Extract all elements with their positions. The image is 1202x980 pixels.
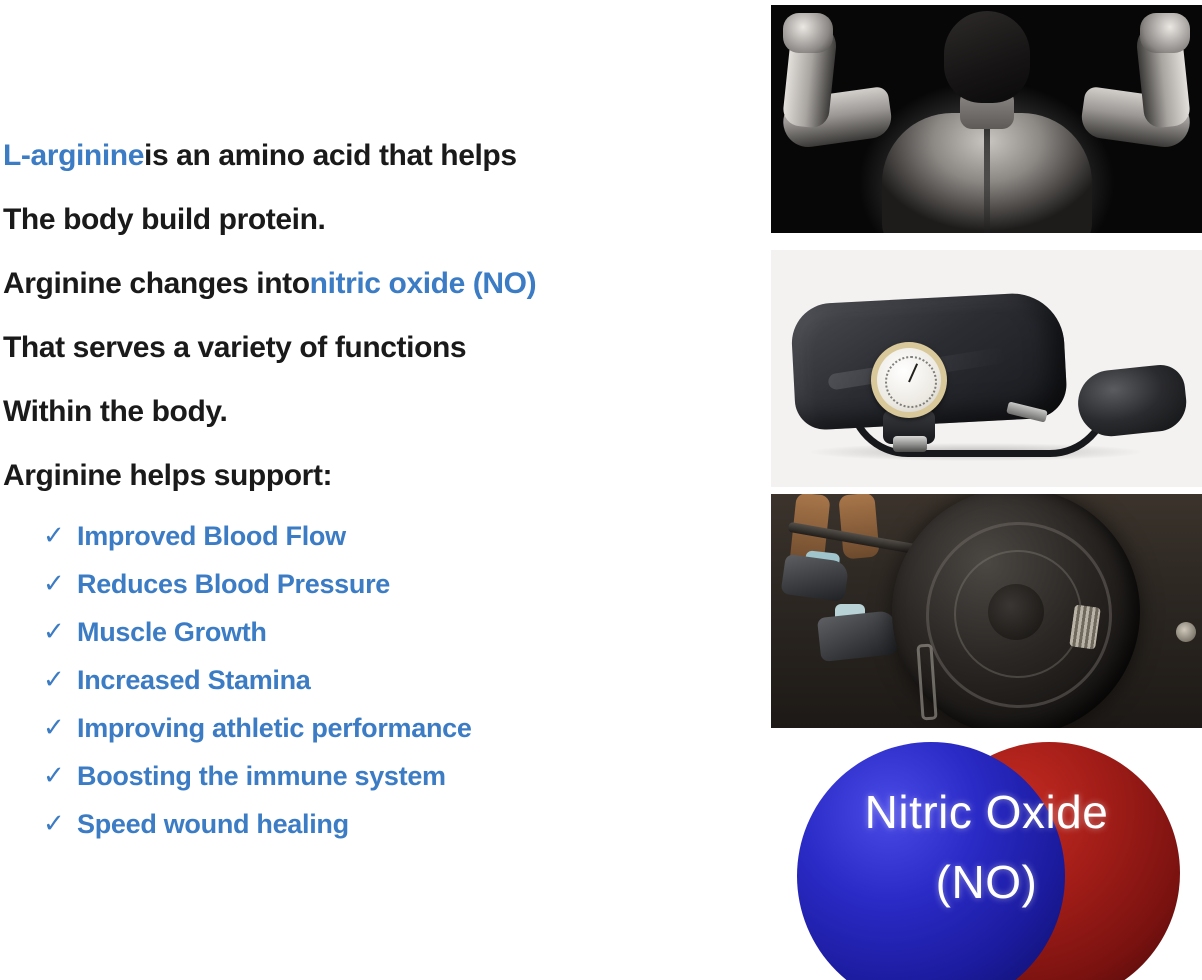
leg-shape [838,494,879,559]
chrome-fitting-shape [893,436,927,452]
statement-line: Arginine helps support: [3,444,743,508]
list-item-label: Improved Blood Flow [77,521,346,552]
statement-line: Within the body. [3,380,743,444]
inflation-bulb-shape [1075,363,1189,440]
shoe-shape [817,610,899,662]
benefits-checklist: ✓ Improved Blood Flow ✓ Reduces Blood Pr… [3,512,743,848]
list-item-label: Reduces Blood Pressure [77,569,390,600]
statement-line: The body build protein. [3,188,743,252]
fist-shape [783,13,833,53]
spine-line-shape [984,121,990,233]
statement-block: L-arginine is an amino acid that helps T… [3,124,743,508]
check-icon: ✓ [43,523,77,549]
list-item: ✓ Boosting the immune system [3,752,743,800]
statement-lead: That serves a variety of functions [3,333,466,363]
statement-lead: L-arginine [3,141,144,171]
fist-shape [1140,13,1190,53]
list-item: ✓ Increased Stamina [3,656,743,704]
list-item-label: Increased Stamina [77,665,311,696]
list-item: ✓ Speed wound healing [3,800,743,848]
check-icon: ✓ [43,619,77,645]
check-icon: ✓ [43,811,77,837]
plate-hub [988,584,1044,640]
list-item-label: Boosting the immune system [77,761,446,792]
blood-pressure-cuff-photo [771,250,1202,487]
image-column: Nitric Oxide (NO) [771,0,1202,980]
statement-lead: Arginine changes into [3,269,310,299]
statement-lead: Arginine helps support: [3,461,332,491]
statement-lead: The body build protein. [3,205,325,235]
check-icon: ✓ [43,667,77,693]
pressure-gauge [871,342,947,418]
statement-rest: is an amino acid that helps [144,141,517,171]
list-item: ✓ Improving athletic performance [3,704,743,752]
statement-line: Arginine changes into nitric oxide (NO) [3,252,743,316]
head-shape [944,11,1030,103]
nitric-oxide-spheres-graphic: Nitric Oxide (NO) [771,740,1202,980]
statement-rest: nitric oxide (NO) [310,269,537,299]
check-icon: ✓ [43,571,77,597]
statement-line: That serves a variety of functions [3,316,743,380]
list-item: ✓ Improved Blood Flow [3,512,743,560]
check-icon: ✓ [43,763,77,789]
barbell-weight-plate-photo [771,494,1202,728]
gauge-dial-face [877,348,941,412]
statement-line: L-arginine is an amino acid that helps [3,124,743,188]
left-arm-shape [777,19,895,169]
statement-lead: Within the body. [3,397,227,427]
list-item: ✓ Muscle Growth [3,608,743,656]
check-icon: ✓ [43,715,77,741]
list-item: ✓ Reduces Blood Pressure [3,560,743,608]
gauge-tick-ring [885,356,937,408]
list-item-label: Speed wound healing [77,809,349,840]
list-item-label: Muscle Growth [77,617,267,648]
bodybuilder-flexing-photo [771,5,1202,233]
list-item-label: Improving athletic performance [77,713,472,744]
slide-canvas: L-arginine is an amino acid that helps T… [0,0,1202,980]
right-arm-shape [1078,19,1196,169]
text-column: L-arginine is an amino acid that helps T… [0,0,768,980]
